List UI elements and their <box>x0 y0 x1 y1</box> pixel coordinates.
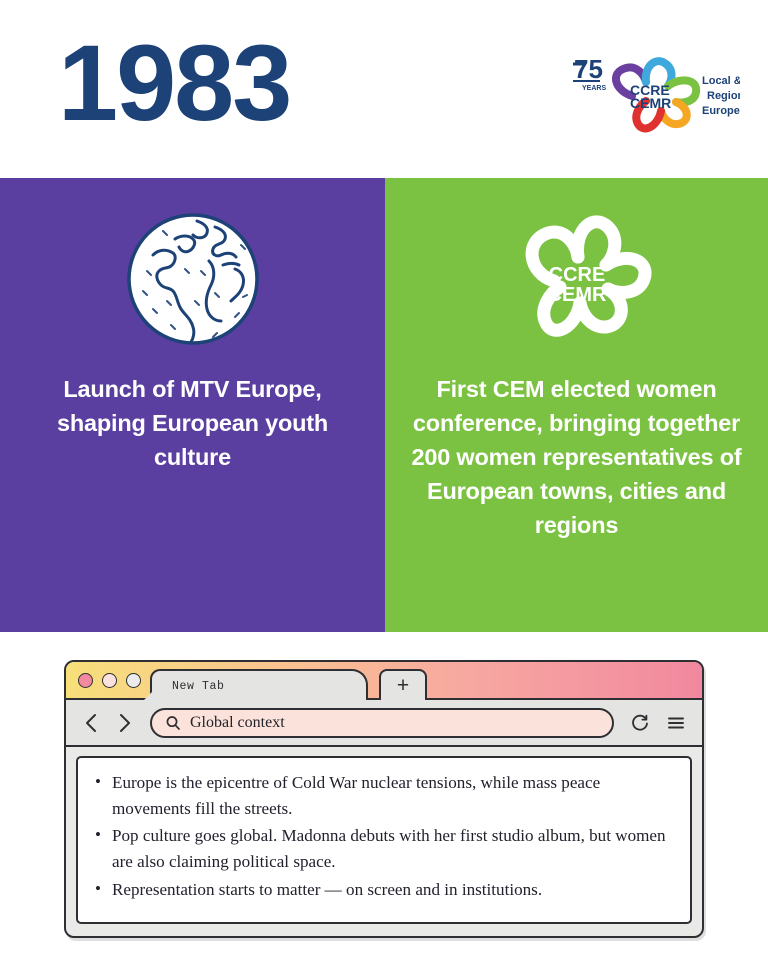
new-tab-button[interactable]: + <box>379 669 427 702</box>
context-bullet-list: Europe is the epicentre of Cold War nucl… <box>92 770 672 903</box>
anniversary-label: YEARS <box>582 85 606 92</box>
menu-button[interactable] <box>664 711 688 735</box>
logo-tagline-line2: Regional <box>707 90 740 102</box>
window-controls <box>78 673 141 688</box>
reload-button[interactable] <box>628 711 652 735</box>
panel-left-text: Launch of MTV Europe, shaping European y… <box>0 372 385 474</box>
page-title: 1983 <box>58 24 290 143</box>
anniversary-number: 75 <box>574 54 603 84</box>
panel-right-text: First CEM elected women conference, brin… <box>385 372 768 542</box>
close-icon[interactable] <box>78 673 93 688</box>
panels-row: Launch of MTV Europe, shaping European y… <box>0 178 768 632</box>
globe-icon <box>123 204 263 354</box>
poster-page: 1983 75 YEARS CCRE CEMR Local & <box>0 0 768 960</box>
browser-content: Europe is the epicentre of Cold War nucl… <box>76 756 692 924</box>
forward-button[interactable] <box>114 710 136 736</box>
list-item: Europe is the epicentre of Cold War nucl… <box>92 770 672 822</box>
star-label-line1: CCRE <box>548 264 605 286</box>
chevron-right-icon <box>121 715 129 731</box>
browser-window: New Tab + Global context <box>64 660 704 938</box>
panel-left: Launch of MTV Europe, shaping European y… <box>0 178 385 632</box>
browser-tab-label: New Tab <box>172 680 225 693</box>
browser-toolbar: Global context <box>66 700 702 747</box>
header: 1983 75 YEARS CCRE CEMR Local & <box>0 0 768 178</box>
reload-icon <box>630 713 650 733</box>
list-item: Pop culture goes global. Madonna debuts … <box>92 823 672 875</box>
logo-tagline-line3: Europe <box>702 105 740 117</box>
address-bar-value: Global context <box>190 714 285 732</box>
minimize-icon[interactable] <box>102 673 117 688</box>
panel-right: CCRE CEMR First CEM elected women confer… <box>385 178 768 632</box>
ccre-cemr-star-icon: CCRE CEMR <box>502 204 652 354</box>
address-bar[interactable]: Global context <box>150 708 614 738</box>
browser-tab[interactable]: New Tab <box>150 669 368 702</box>
hamburger-menu-icon <box>666 713 686 733</box>
ccre-cemr-logo: 75 YEARS CCRE CEMR Local & Regional Euro… <box>570 50 740 142</box>
search-icon <box>165 715 181 731</box>
logo-acronym-line2: CEMR <box>630 95 671 111</box>
browser-titlebar: New Tab + <box>66 662 702 700</box>
back-button[interactable] <box>80 710 102 736</box>
logo-tagline-line1: Local & <box>702 75 740 87</box>
plus-icon: + <box>381 673 425 699</box>
star-label-line2: CEMR <box>547 284 606 306</box>
chevron-left-icon <box>87 715 95 731</box>
maximize-icon[interactable] <box>126 673 141 688</box>
list-item: Representation starts to matter — on scr… <box>92 877 672 903</box>
logo-svg: 75 YEARS CCRE CEMR Local & Regional Euro… <box>570 50 740 142</box>
